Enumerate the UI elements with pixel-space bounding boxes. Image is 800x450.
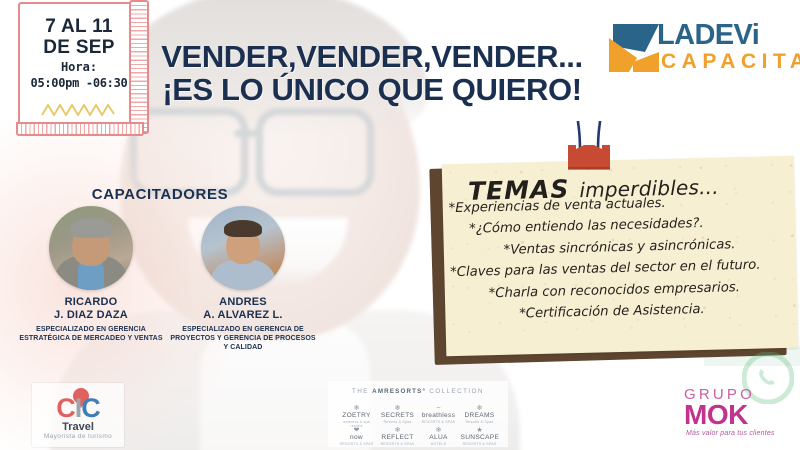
- brand-ornament-icon: ❤: [338, 427, 376, 434]
- ladevi-capacita-logo: LADEVi CAPACITA: [607, 18, 787, 80]
- cyc-letter-1: C: [56, 393, 75, 423]
- topic-item: *Charla con reconocidos empresarios.: [449, 280, 795, 302]
- trainer-card-ricardo: RICARDO J. DIAZ DAZA ESPECIALIZADO EN GE…: [16, 206, 166, 344]
- brand-ornament-icon: ❄: [461, 405, 499, 412]
- poster-title: VENDER,VENDER,VENDER... ¡ES LO ÚNICO QUE…: [152, 40, 592, 107]
- brand-ornament-icon: ❄: [338, 405, 376, 412]
- amresorts-brand-row-2: ❤ now RESORTS & SPAS ❄ REFLECT RESORTS &…: [328, 427, 508, 446]
- topic-item: *Ventas sincrónicas y asincrónicas.: [448, 237, 794, 259]
- trainers-heading: CAPACITADORES: [0, 186, 320, 203]
- amresorts-brand: ❄ SECRETS Resorts & Spas: [379, 405, 417, 428]
- brand-tagline: HOTELS: [420, 442, 458, 446]
- brand-ornament-icon: ~: [420, 405, 458, 412]
- topics-list: *Experiencias de venta actuales. *¿Cómo …: [446, 194, 795, 331]
- brand-tagline: RESORTS & SPAS: [420, 420, 458, 424]
- trainer-name-line-2: A. ALVAREZ L.: [168, 309, 318, 322]
- brand-tagline: Resorts & Spas: [461, 420, 499, 424]
- promo-poster: 7 AL 11 DE SEP Hora: 05:00pm -06:30 VEND…: [0, 0, 800, 450]
- brand-name: DREAMS: [461, 412, 499, 420]
- cyc-letter-2: C: [81, 393, 100, 423]
- cyc-letters: CIC: [32, 395, 124, 422]
- cyc-travel-logo: CIC Travel Mayorista de turismo: [32, 383, 124, 447]
- trainer-avatar: [201, 206, 285, 290]
- brand-name: breathless: [420, 412, 458, 420]
- brand-name: ZOETRY: [338, 412, 376, 420]
- trainer-avatar: [49, 206, 133, 290]
- ladevi-wordmark: LADEVi: [657, 21, 759, 50]
- poster-title-line-1: VENDER,VENDER,VENDER...: [152, 40, 592, 73]
- trainer-name: ANDRES A. ALVAREZ L.: [168, 296, 318, 322]
- ladevi-chevron-mark-icon: [607, 22, 663, 76]
- brand-name: ALUA: [420, 434, 458, 442]
- amresorts-title-bold: AMRESORTS°: [372, 388, 426, 395]
- amresorts-title: THE AMRESORTS° COLLECTION: [328, 388, 508, 395]
- brand-ornament-icon: ❄: [379, 427, 417, 434]
- amresorts-collection-logo: THE AMRESORTS° COLLECTION ❄ ZOETRY welln…: [328, 381, 508, 447]
- poster-title-line-2: ¡ES LO ÚNICO QUE QUIERO!: [152, 73, 592, 106]
- cyc-tagline: Mayorista de turismo: [32, 433, 124, 440]
- amresorts-brand: ❄ ZOETRY wellness & spa resorts: [338, 405, 376, 428]
- amresorts-title-post: COLLECTION: [426, 388, 484, 395]
- brand-name: REFLECT: [379, 434, 417, 442]
- event-date: 7 AL 11 DE SEP: [18, 16, 140, 59]
- mok-wordmark: MOK: [684, 401, 748, 429]
- amresorts-brand: ★ SUNSCAPE RESORTS & SPAS: [461, 427, 499, 446]
- date-card-bottom-edge: [16, 122, 144, 136]
- trainer-name-line-2: J. DIAZ DAZA: [16, 309, 166, 322]
- brand-tagline: RESORTS & SPAS: [338, 442, 376, 446]
- topic-item: *Certificación de Asistencia.: [449, 301, 795, 323]
- brand-tagline: Resorts & Spas: [379, 420, 417, 424]
- mok-orange-dot: [754, 406, 778, 430]
- amresorts-brand: ❄ DREAMS Resorts & Spas: [461, 405, 499, 428]
- mok-tagline: Más valor para tus clientes: [686, 430, 775, 437]
- grupo-mok-logo: GRUPO MOK Más valor para tus clientes: [682, 386, 790, 444]
- event-date-line-2: DE SEP: [18, 37, 140, 58]
- trainer-name-line-1: RICARDO: [16, 296, 166, 309]
- binder-clip-icon: [558, 121, 620, 173]
- trainer-name: RICARDO J. DIAZ DAZA: [16, 296, 166, 322]
- amresorts-brand: ❄ ALUA HOTELS: [420, 427, 458, 446]
- trainer-name-line-1: ANDRES: [168, 296, 318, 309]
- event-time-label: Hora:: [18, 60, 140, 74]
- brand-tagline: RESORTS & SPAS: [461, 442, 499, 446]
- event-date-line-1: 7 AL 11: [18, 16, 140, 37]
- trainer-role: ESPECIALIZADO EN GERENCIA DE PROYECTOS Y…: [168, 326, 318, 352]
- amresorts-brand: ❤ now RESORTS & SPAS: [338, 427, 376, 446]
- trainer-role: ESPECIALIZADO EN GERENCIA ESTRATÉGICA DE…: [16, 326, 166, 344]
- amresorts-brand: ❄ REFLECT RESORTS & SPAS: [379, 427, 417, 446]
- topic-item: *¿Cómo entiendo las necesidades?.: [447, 215, 793, 237]
- event-date-card: 7 AL 11 DE SEP Hora: 05:00pm -06:30: [18, 2, 140, 128]
- brand-name: now: [338, 434, 376, 442]
- brand-name: SECRETS: [379, 412, 417, 420]
- amresorts-brand: ~ breathless RESORTS & SPAS: [420, 405, 458, 428]
- brand-ornament-icon: ★: [461, 427, 499, 434]
- scribble-underline-icon: [40, 102, 120, 118]
- ladevi-capacita-sub: CAPACITA: [661, 51, 800, 72]
- cyc-name: Travel: [32, 421, 124, 433]
- brand-name: SUNSCAPE: [461, 434, 499, 442]
- trainer-card-andres: ANDRES A. ALVAREZ L. ESPECIALIZADO EN GE…: [168, 206, 318, 353]
- amresorts-brand-row-1: ❄ ZOETRY wellness & spa resorts ❄ SECRET…: [328, 405, 508, 428]
- brand-tagline: RESORTS & SPAS: [379, 442, 417, 446]
- topic-item: *Claves para las ventas del sector en el…: [448, 258, 794, 280]
- event-time-value: 05:00pm -06:30: [18, 76, 140, 90]
- brand-ornament-icon: ❄: [379, 405, 417, 412]
- brand-ornament-icon: ❄: [420, 427, 458, 434]
- amresorts-title-pre: THE: [352, 388, 372, 395]
